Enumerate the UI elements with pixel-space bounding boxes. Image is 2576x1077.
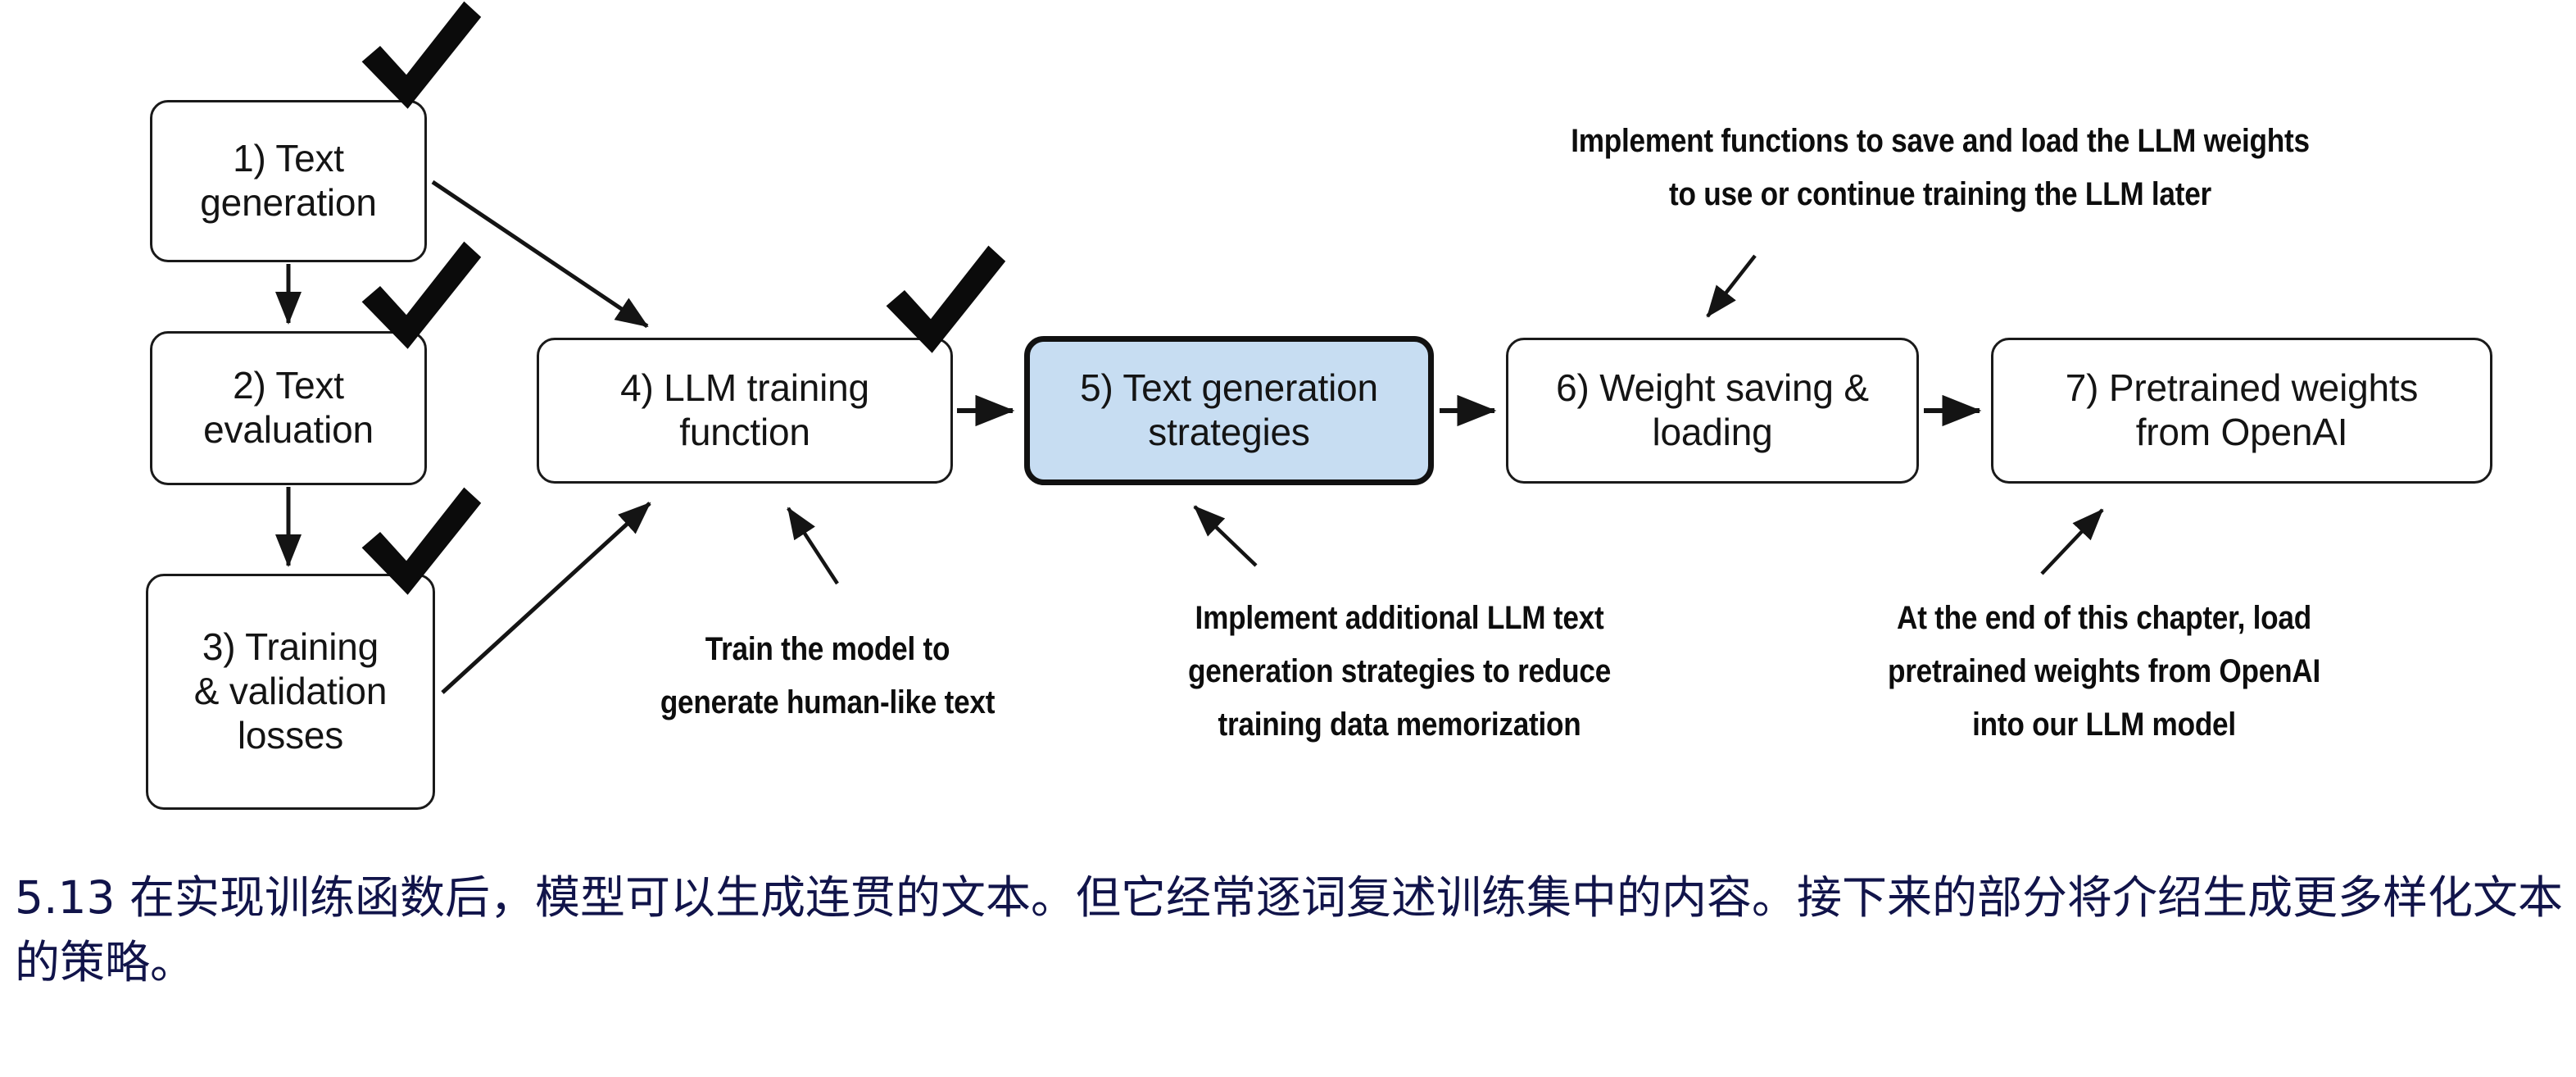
annotation-line: Implement additional LLM text (1132, 592, 1668, 645)
flow-box-weight-saving-loading[interactable]: 6) Weight saving & loading (1506, 338, 1919, 484)
pointer-note-weights-box6 (1708, 256, 1755, 316)
pointer-note-openai-box7 (2042, 510, 2102, 574)
figure-caption-text: 5.13 在实现训练函数后，模型可以生成连贯的文本。但它经常逐词复述训练集中的内… (15, 871, 2563, 988)
flow-box-label: 5) Text generation strategies (1080, 366, 1378, 455)
annotation-weight-saving: Implement functions to save and load the… (1487, 115, 2392, 221)
annotation-line: generate human-like text (604, 676, 1051, 729)
annotation-line: Implement functions to save and load the… (1487, 115, 2392, 168)
flow-box-label: 2) Text evaluation (203, 364, 374, 452)
flow-box-label: 4) LLM training function (620, 366, 869, 455)
connector-box1-box4 (433, 182, 647, 326)
annotation-train-model: Train the model to generate human-like t… (604, 623, 1051, 729)
flow-box-text-generation[interactable]: 1) Text generation (150, 100, 427, 262)
flow-box-text-evaluation[interactable]: 2) Text evaluation (150, 331, 427, 485)
annotation-openai-weights: At the end of this chapter, load pretrai… (1836, 592, 2373, 751)
flow-box-llm-training-function[interactable]: 4) LLM training function (537, 338, 953, 484)
annotation-generation-strategies: Implement additional LLM text generation… (1132, 592, 1668, 751)
annotation-line: pretrained weights from OpenAI (1836, 645, 2373, 698)
flow-box-label: 6) Weight saving & loading (1556, 366, 1869, 455)
figure-caption: 5.13 在实现训练函数后，模型可以生成连贯的文本。但它经常逐词复述训练集中的内… (15, 866, 2563, 995)
flow-box-pretrained-weights-openai[interactable]: 7) Pretrained weights from OpenAI (1991, 338, 2492, 484)
annotation-line: into our LLM model (1836, 698, 2373, 752)
flow-box-label: 1) Text generation (200, 137, 376, 225)
flow-box-label: 7) Pretrained weights from OpenAI (2066, 366, 2418, 455)
flow-box-training-validation-losses[interactable]: 3) Training & validation losses (146, 574, 435, 810)
annotation-line: At the end of this chapter, load (1836, 592, 2373, 645)
flow-diagram-stage: 1) Text generation 2) Text evaluation 3)… (0, 0, 2576, 852)
pointer-note-train-box4 (788, 508, 837, 584)
pointer-note-strategies-box5 (1195, 507, 1256, 566)
annotation-line: Train the model to (604, 623, 1051, 676)
flow-box-text-generation-strategies[interactable]: 5) Text generation strategies (1024, 336, 1434, 485)
annotation-line: generation strategies to reduce (1132, 645, 1668, 698)
annotation-line: to use or continue training the LLM late… (1487, 168, 2392, 221)
annotation-line: training data memorization (1132, 698, 1668, 752)
flow-box-label: 3) Training & validation losses (194, 625, 387, 757)
